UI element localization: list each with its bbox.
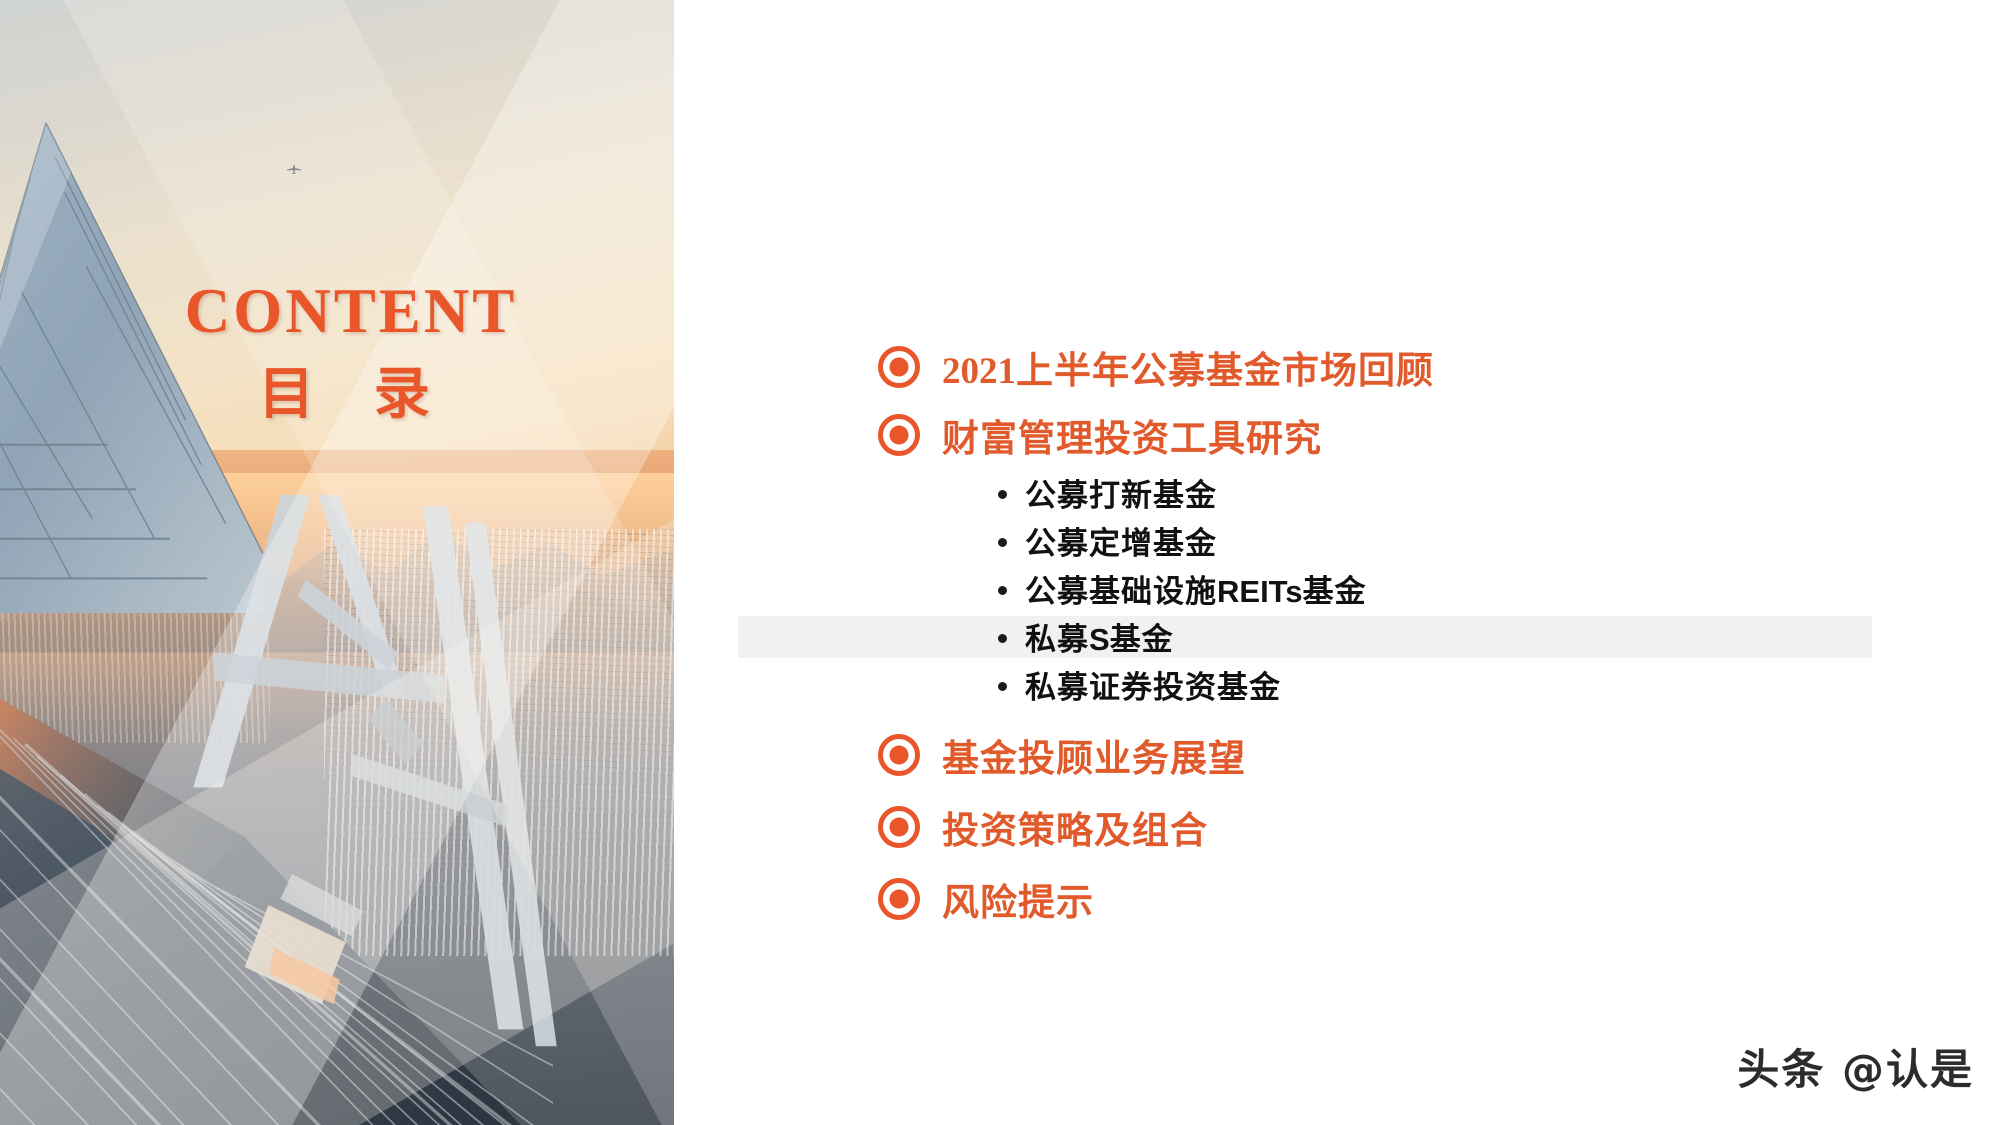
slide-root: CONTENT 目 录 2021上半年公募基金市场回顾 财富管理投资工具研究 基… <box>0 0 2000 1125</box>
toc-item-label: 财富管理投资工具研究 <box>942 408 1322 462</box>
toc-item-market-review[interactable]: 2021上半年公募基金市场回顾 <box>878 340 1434 394</box>
sub-item-label: 公募定增基金 <box>1025 518 1217 563</box>
bullet-dot-icon <box>998 634 1007 643</box>
cover-title-block: CONTENT 目 录 <box>0 278 674 436</box>
toc-item-wealth-tools[interactable]: 财富管理投资工具研究 <box>878 408 1322 462</box>
sub-item-text-head: 私募 <box>1025 622 1089 658</box>
toc-item-label: 风险提示 <box>942 872 1094 926</box>
toc-item-label: 投资策略及组合 <box>942 800 1208 854</box>
toc-item-label: 基金投顾业务展望 <box>942 728 1246 782</box>
sub-item-private-securities-fund[interactable]: 私募证券投资基金 <box>998 662 1281 707</box>
bullet-dot-icon <box>998 490 1007 499</box>
sub-item-public-private-placement-fund[interactable]: 公募定增基金 <box>998 518 1217 563</box>
bullet-target-icon <box>878 346 920 388</box>
bullet-dot-icon <box>998 586 1007 595</box>
sub-item-text-tail: 基金 <box>1110 622 1174 658</box>
watermark: 头条 @认是 <box>1737 1036 1974 1097</box>
sub-item-label: 私募证券投资基金 <box>1025 662 1281 707</box>
cover-photograph <box>0 0 674 1125</box>
bullet-dot-icon <box>998 682 1007 691</box>
cover-title-chinese: 目 录 <box>34 344 674 436</box>
toc-item-year: 2021 <box>942 351 1016 392</box>
cover-title-english: CONTENT <box>28 278 674 344</box>
bullet-target-icon <box>878 414 920 456</box>
sub-item-public-infrastructure-reits-fund[interactable]: 公募基础设施REITs基金 <box>998 566 1367 611</box>
selected-row-highlight <box>738 616 1872 658</box>
bullet-target-icon <box>878 734 920 776</box>
bullet-target-icon <box>878 878 920 920</box>
toc-item-text: 上半年公募基金市场回顾 <box>1016 348 1434 392</box>
contents-area: 2021上半年公募基金市场回顾 财富管理投资工具研究 基金投顾业务展望 投资策略… <box>674 0 2000 1125</box>
sub-item-label: 公募基础设施REITs基金 <box>1025 566 1367 611</box>
airplane-icon <box>286 164 302 174</box>
sub-item-text-latin: REITs <box>1217 574 1303 609</box>
cover-image-panel: CONTENT 目 录 <box>0 0 674 1125</box>
toc-item-risk-warning[interactable]: 风险提示 <box>878 872 1094 926</box>
bullet-target-icon <box>878 806 920 848</box>
toc-item-label: 2021上半年公募基金市场回顾 <box>942 340 1434 394</box>
bullet-dot-icon <box>998 538 1007 547</box>
toc-item-advisory-outlook[interactable]: 基金投顾业务展望 <box>878 728 1246 782</box>
sub-item-text-latin: S <box>1089 622 1110 657</box>
tower-support-struts <box>189 495 607 1058</box>
sub-item-label: 私募S基金 <box>1025 614 1174 659</box>
toc-item-strategy-portfolio[interactable]: 投资策略及组合 <box>878 800 1208 854</box>
sub-item-private-s-fund[interactable]: 私募S基金 <box>998 614 1174 659</box>
sub-item-public-new-share-fund[interactable]: 公募打新基金 <box>998 470 1217 515</box>
sub-item-text-head: 公募基础设施 <box>1025 574 1217 610</box>
sub-item-label: 公募打新基金 <box>1025 470 1217 515</box>
sub-item-text-tail: 基金 <box>1303 574 1367 610</box>
